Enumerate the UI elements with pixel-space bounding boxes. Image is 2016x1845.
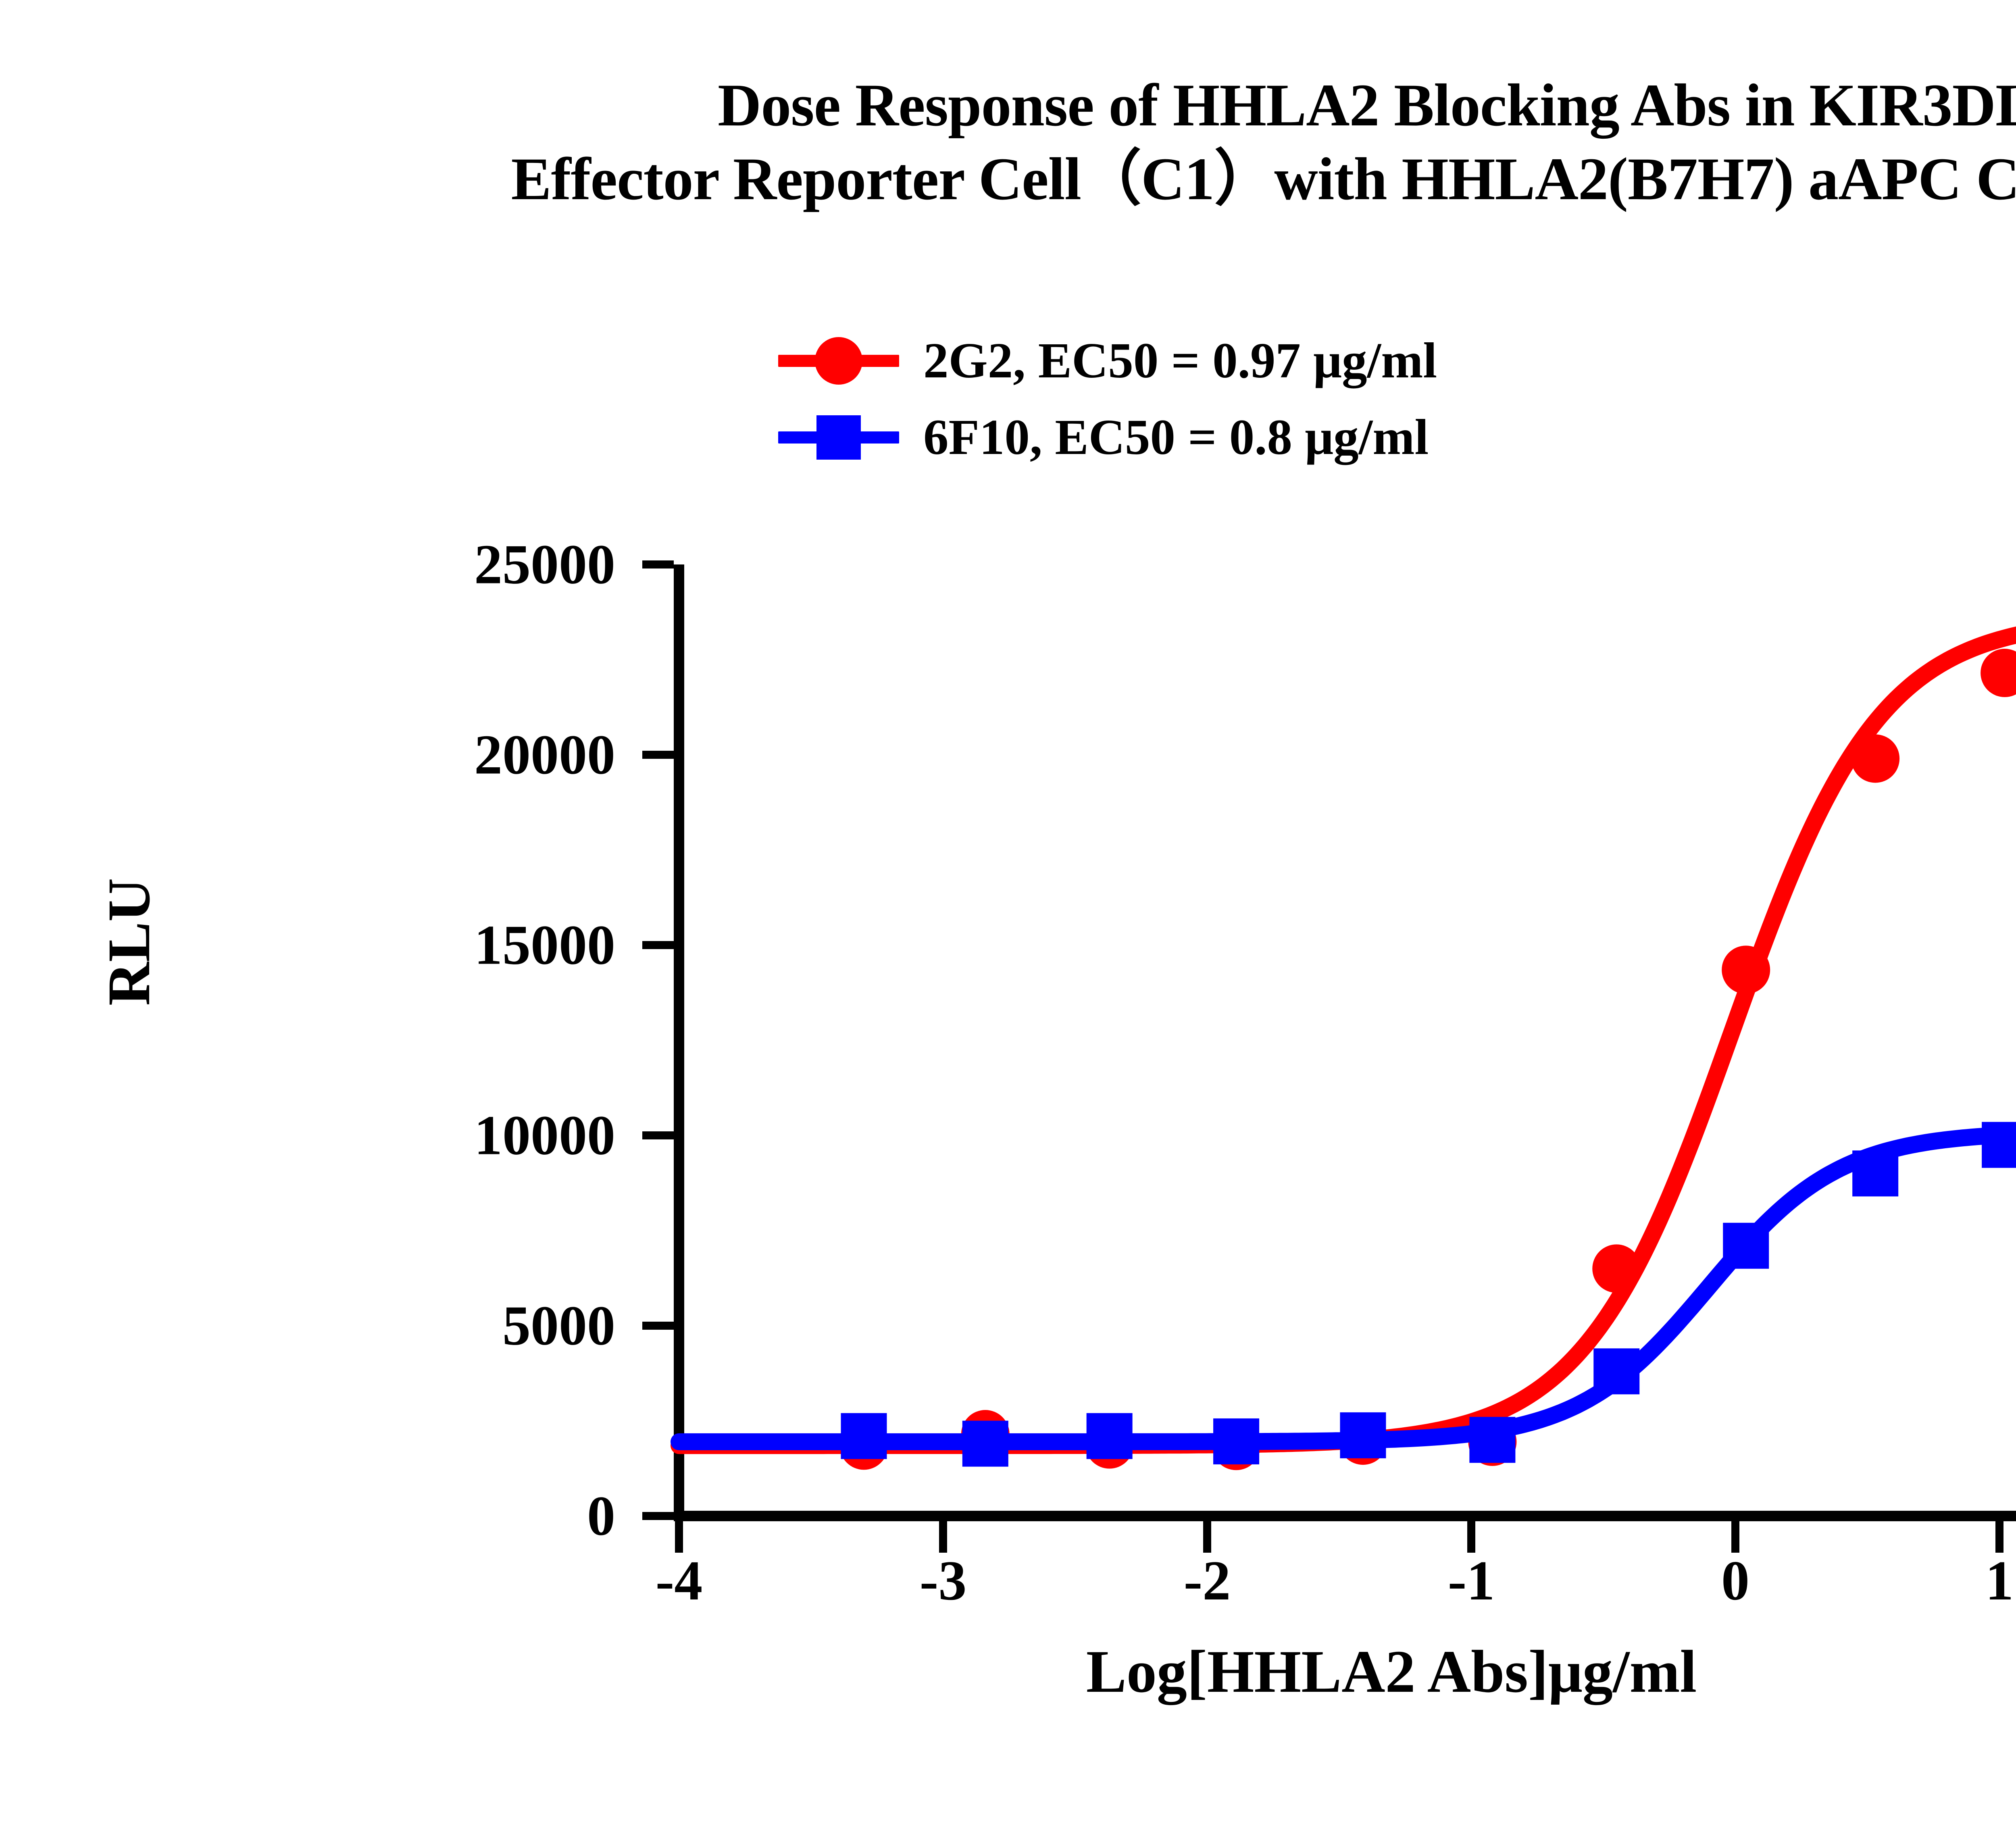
y-axis-tick bbox=[642, 560, 674, 568]
data-point-circle bbox=[1722, 945, 1770, 994]
data-point-circle bbox=[1592, 1244, 1641, 1293]
data-point-square bbox=[1723, 1223, 1769, 1269]
fit-curve-6f10 bbox=[679, 1132, 2016, 1442]
data-point-square bbox=[1982, 1122, 2016, 1168]
y-axis-tick bbox=[642, 941, 674, 949]
data-point-square bbox=[1469, 1417, 1515, 1463]
data-point-square bbox=[1852, 1150, 1898, 1196]
fit-curve-2g2 bbox=[679, 620, 2016, 1445]
x-axis-tick bbox=[939, 1521, 947, 1553]
y-axis-tick bbox=[642, 1131, 674, 1139]
data-point-square bbox=[1340, 1412, 1386, 1458]
data-point-square bbox=[1593, 1348, 1639, 1394]
y-axis-tick bbox=[642, 1512, 674, 1520]
data-point-square bbox=[1213, 1418, 1259, 1464]
data-point-square bbox=[962, 1421, 1008, 1467]
y-axis-tick bbox=[642, 751, 674, 759]
x-axis-line bbox=[674, 1511, 2016, 1521]
y-axis-tick bbox=[642, 1322, 674, 1330]
x-axis-tick bbox=[1731, 1521, 1739, 1553]
data-point-circle bbox=[1981, 649, 2016, 697]
data-point-circle bbox=[1851, 734, 1899, 783]
x-axis-tick bbox=[675, 1521, 683, 1553]
series-2g2 bbox=[679, 567, 2016, 1470]
x-axis-tick bbox=[1203, 1521, 1211, 1553]
data-point-square bbox=[841, 1413, 887, 1459]
x-axis-tick bbox=[1995, 1521, 2004, 1553]
data-point-square bbox=[1087, 1413, 1133, 1459]
series-6f10 bbox=[679, 1114, 2016, 1467]
x-axis-tick bbox=[1467, 1521, 1475, 1553]
plot-canvas bbox=[0, 0, 2016, 1845]
y-axis-line bbox=[674, 564, 684, 1521]
chart-figure: Dose Response of HHLA2 Blocking Abs in K… bbox=[0, 0, 2016, 1845]
